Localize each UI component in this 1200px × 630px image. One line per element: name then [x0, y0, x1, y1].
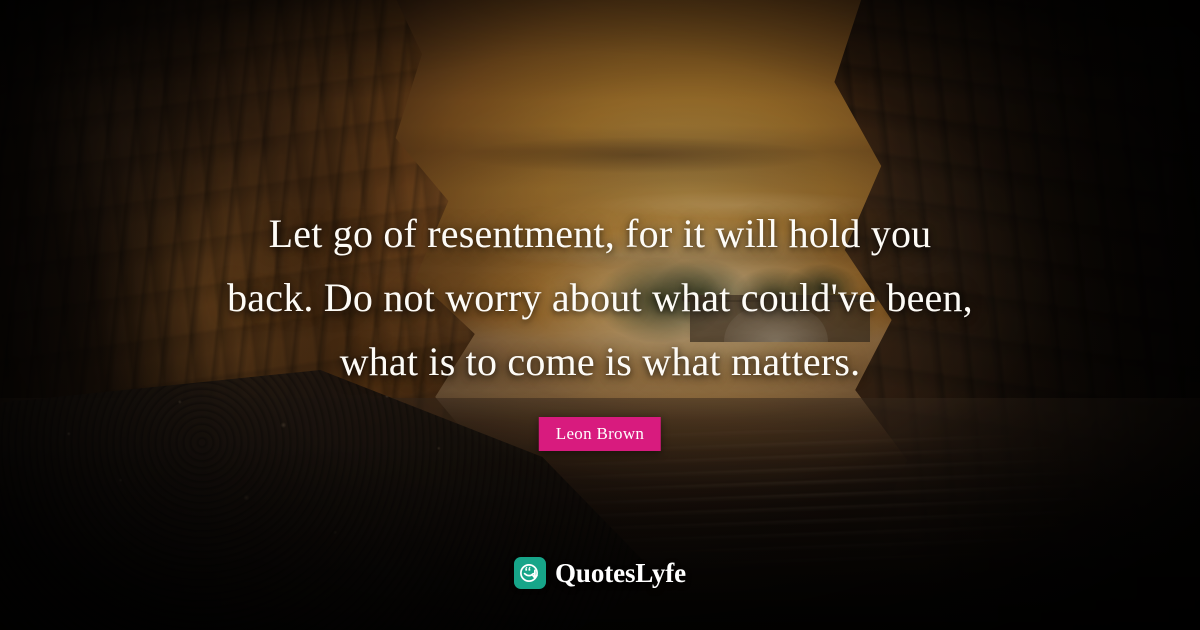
quote-line-3: what is to come is what matters.	[118, 330, 1082, 394]
quote-smiley-icon	[514, 557, 546, 589]
author-badge[interactable]: Leon Brown	[539, 417, 661, 451]
brand-logo[interactable]: QuotesLyfe	[514, 557, 686, 589]
quote-card: Let go of resentment, for it will hold y…	[0, 0, 1200, 630]
quote-text: Let go of resentment, for it will hold y…	[0, 202, 1200, 394]
card-content: Let go of resentment, for it will hold y…	[0, 0, 1200, 630]
quote-line-2: back. Do not worry about what could've b…	[118, 266, 1082, 330]
brand-name: QuotesLyfe	[555, 560, 686, 587]
author-name: Leon Brown	[556, 424, 644, 443]
quote-line-1: Let go of resentment, for it will hold y…	[118, 202, 1082, 266]
